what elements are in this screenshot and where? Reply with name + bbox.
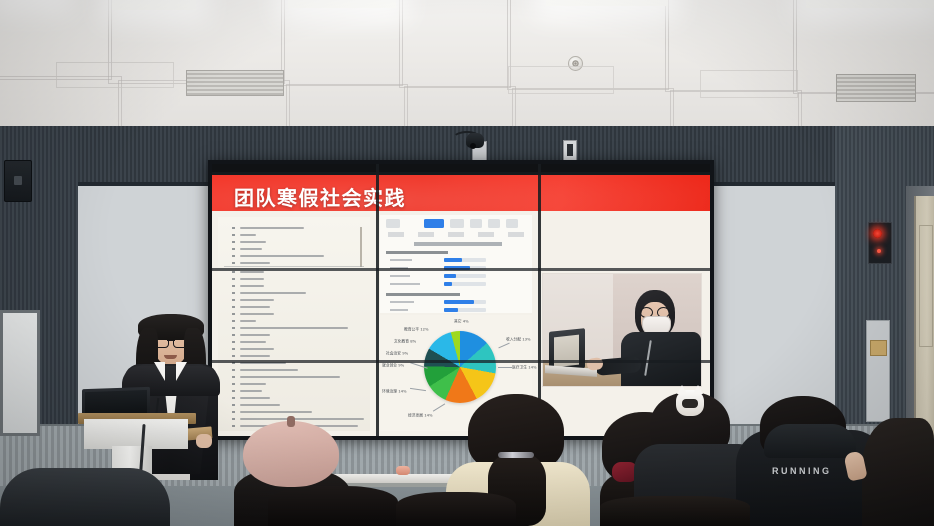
tab-item[interactable] bbox=[506, 219, 518, 228]
audience-head bbox=[862, 418, 934, 526]
tab-item[interactable] bbox=[470, 219, 482, 228]
presenter-hand bbox=[196, 434, 212, 448]
ceiling bbox=[0, 0, 934, 130]
dashboard-tab-bar[interactable] bbox=[380, 217, 532, 230]
dashboard-subnav[interactable] bbox=[388, 232, 524, 237]
pie-chart bbox=[424, 331, 496, 403]
pie-label: 收入分配 13% bbox=[506, 336, 531, 342]
pie-label: 经济发展 14% bbox=[408, 412, 433, 418]
audience-foreground-shoulder bbox=[0, 468, 170, 526]
tab-item[interactable] bbox=[450, 219, 464, 228]
control-panel[interactable] bbox=[868, 222, 892, 264]
jacket-brand-text: RUNNING bbox=[772, 466, 832, 476]
bezel-seam-horizontal bbox=[212, 172, 710, 175]
pie-label: 文化教育 8% bbox=[394, 338, 416, 344]
desk-item bbox=[396, 466, 410, 475]
audience-head-foreground bbox=[600, 496, 750, 526]
door-panel bbox=[919, 225, 933, 347]
result-bar bbox=[444, 274, 456, 278]
dashboard-heading bbox=[414, 242, 502, 246]
jacket-hood bbox=[764, 424, 856, 458]
pie-label: 其它 4% bbox=[454, 318, 469, 324]
survey-dashboard-panel[interactable] bbox=[380, 215, 532, 313]
podium-front bbox=[84, 419, 188, 449]
wall-sign-label bbox=[870, 340, 887, 356]
result-bar bbox=[444, 308, 458, 312]
pie-label: 教育公平 12% bbox=[404, 326, 429, 332]
fieldwork-photo-panel bbox=[542, 273, 702, 387]
result-bar bbox=[444, 282, 452, 286]
tab-item[interactable] bbox=[488, 219, 500, 228]
page-title: 团队寒假社会实践 bbox=[234, 182, 406, 211]
air-vent bbox=[836, 74, 916, 102]
ceiling-light-panel bbox=[806, 0, 934, 8]
document-outline-panel[interactable] bbox=[218, 217, 370, 431]
hair-clip-icon bbox=[498, 452, 534, 458]
pie-label: 医疗卫生 14% bbox=[512, 364, 537, 370]
bezel-seam-vertical bbox=[376, 164, 379, 436]
tab-item-selected[interactable] bbox=[424, 219, 444, 228]
audience-head-foreground bbox=[268, 486, 398, 526]
status-led-secondary-icon bbox=[877, 249, 881, 253]
classroom-presentation-photo: 团队寒假社会实践 bbox=[0, 0, 934, 526]
ceiling-light-panel bbox=[546, 0, 668, 6]
wall-speaker-icon bbox=[4, 160, 32, 202]
document-scrollbar[interactable] bbox=[360, 227, 362, 267]
whiteboard bbox=[0, 310, 40, 436]
glasses-icon bbox=[640, 307, 670, 316]
ceiling-light-panel bbox=[112, 0, 196, 10]
air-vent bbox=[186, 70, 284, 96]
pie-label: 社会治安 9% bbox=[386, 350, 408, 356]
result-bar bbox=[444, 300, 474, 304]
ceiling-light-panel bbox=[288, 0, 396, 8]
bezel-seam-horizontal bbox=[212, 268, 710, 271]
tab-item[interactable] bbox=[386, 219, 400, 228]
result-bar bbox=[444, 258, 462, 262]
pie-label: 环境治理 14% bbox=[382, 388, 407, 394]
status-led-icon bbox=[873, 229, 882, 238]
bezel-seam-horizontal bbox=[212, 360, 710, 363]
slide-banner: 团队寒假社会实践 bbox=[212, 175, 710, 211]
motion-sensor-icon bbox=[563, 140, 577, 161]
bezel-seam-vertical bbox=[538, 164, 541, 436]
audience-head-foreground bbox=[396, 492, 516, 526]
slide-content-area: 收入分配 13% 医疗卫生 14% 经济发展 14% 环境治理 14% 就业创业… bbox=[212, 211, 710, 436]
video-wall-display[interactable]: 团队寒假社会实践 bbox=[208, 160, 714, 440]
audience-beret bbox=[243, 421, 339, 487]
camera-lens-icon bbox=[470, 143, 476, 149]
wall-sign-plate bbox=[866, 320, 890, 422]
